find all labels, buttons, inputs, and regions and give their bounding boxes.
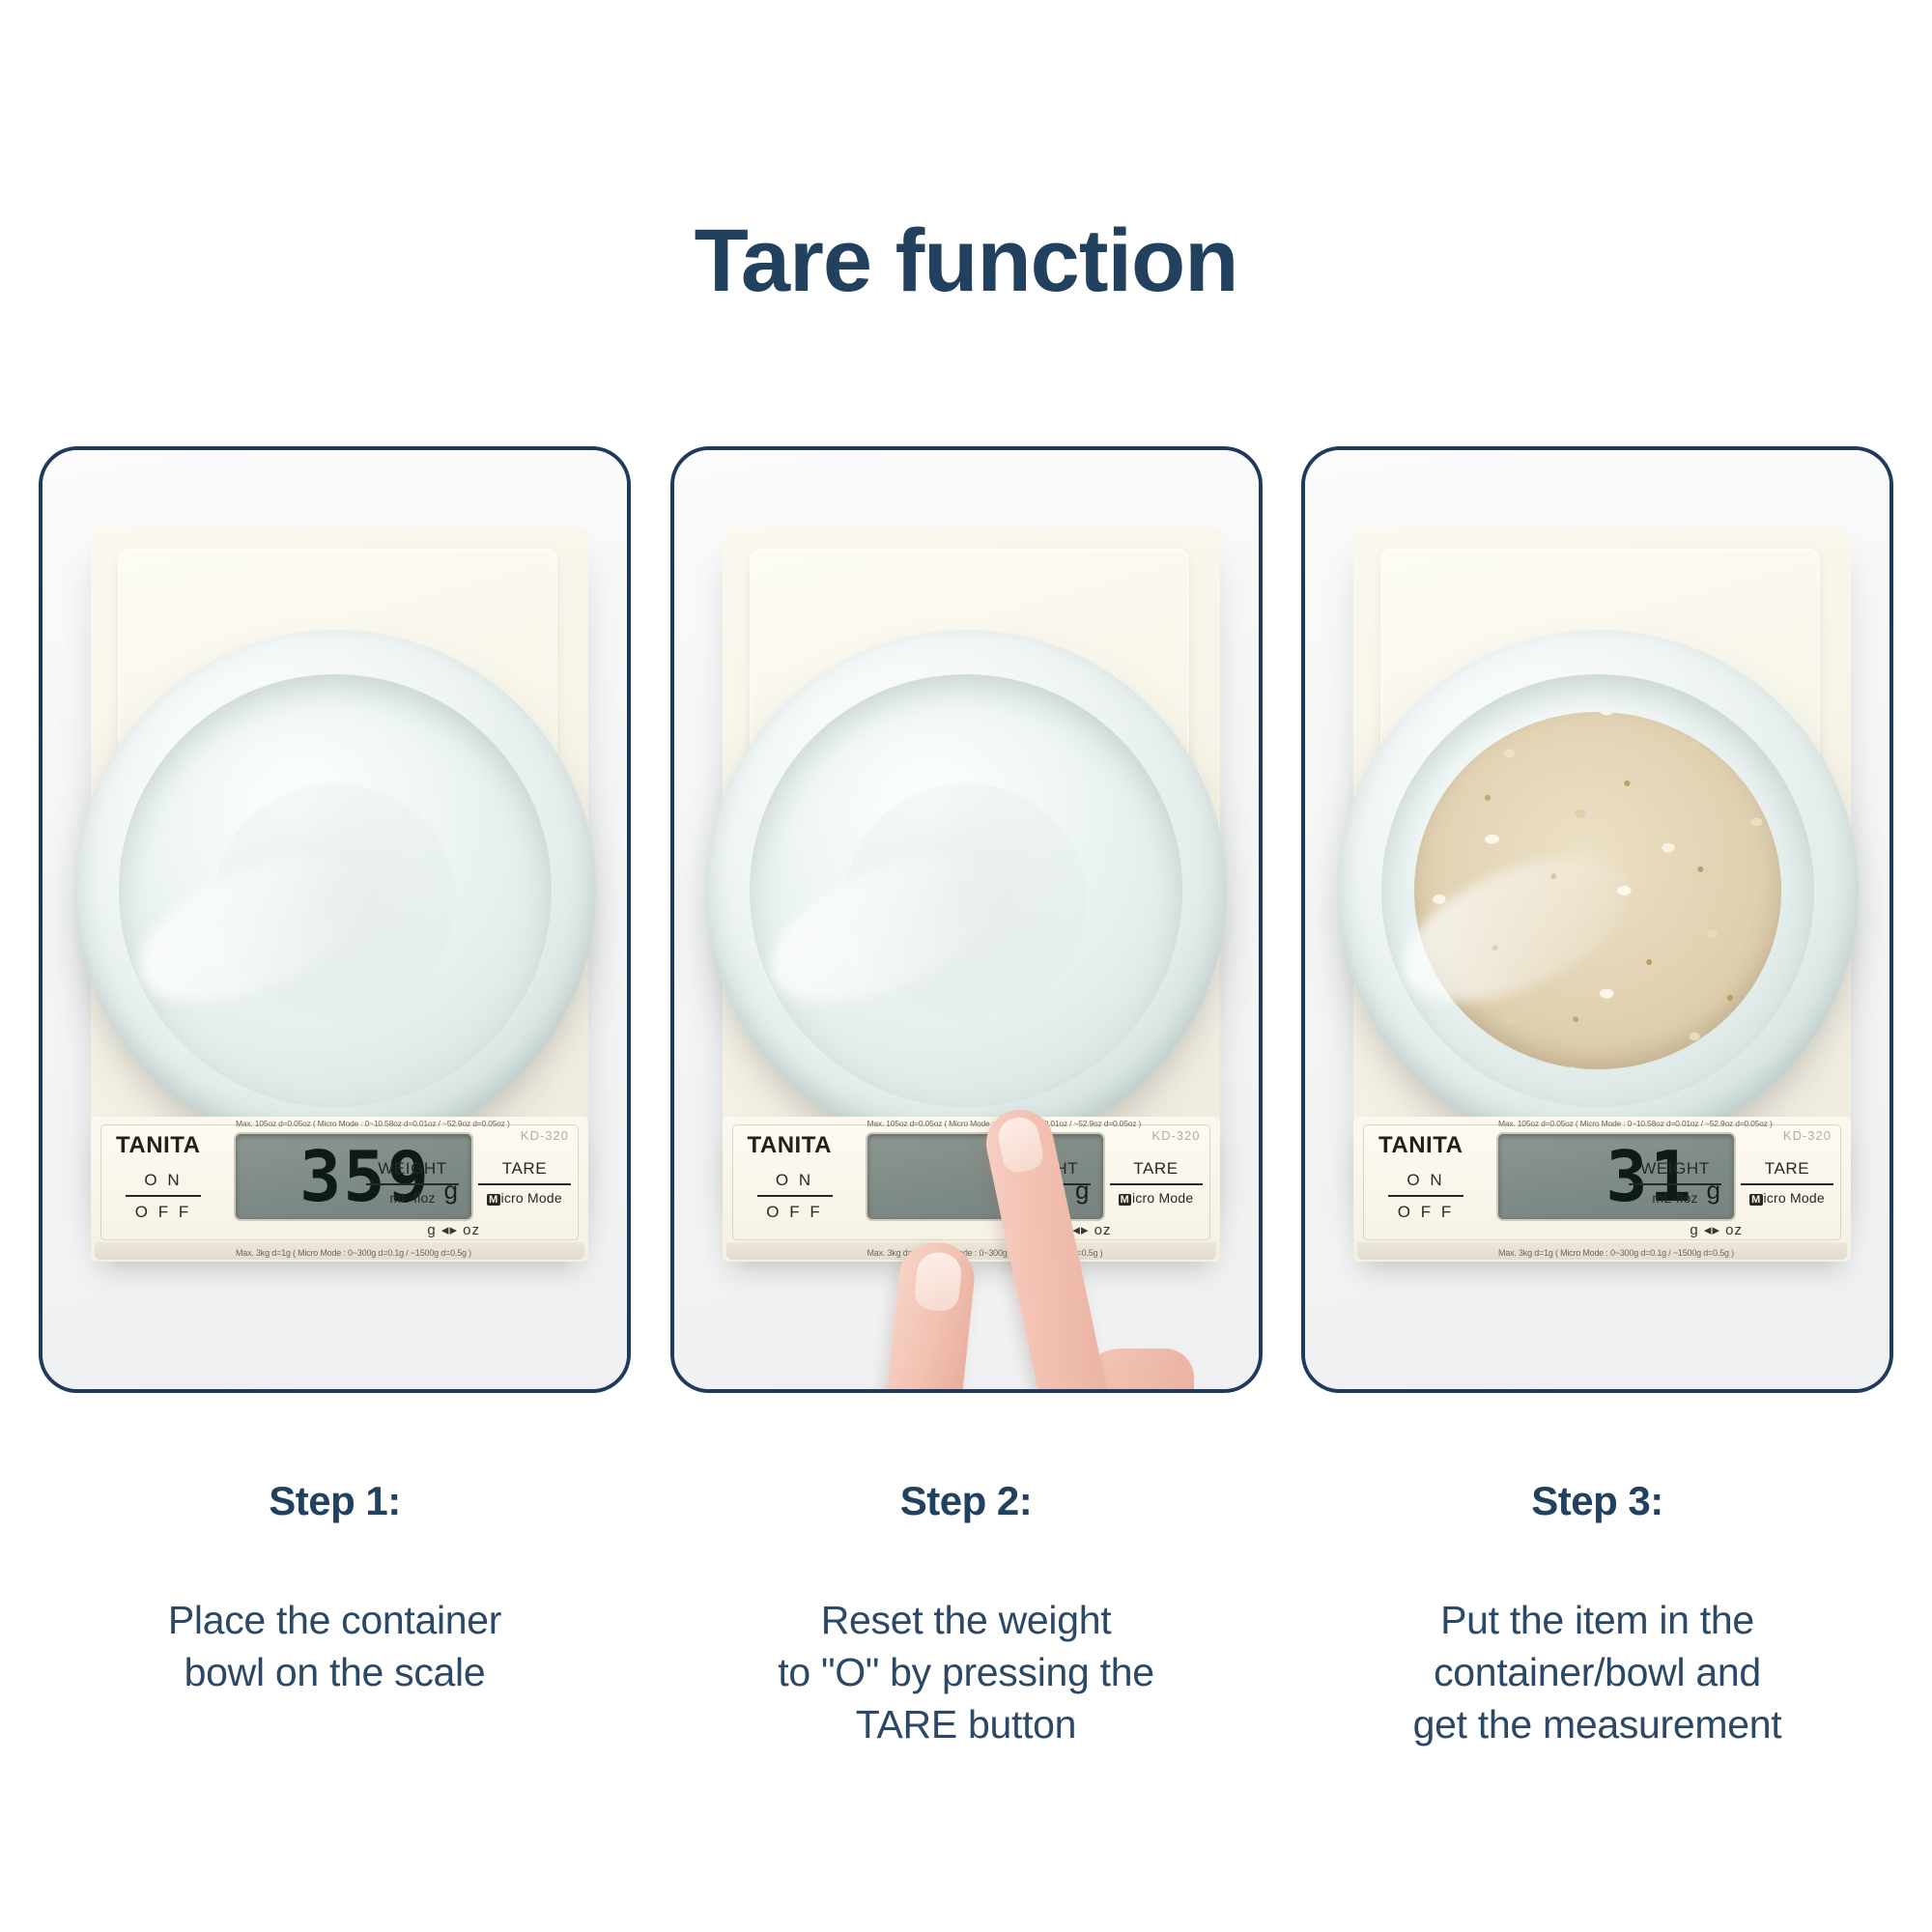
infographic-page: Tare function TANITA xyxy=(0,0,1932,1932)
tare-button-divider xyxy=(478,1183,571,1185)
weight-button-label: WEIGHT xyxy=(1629,1159,1721,1179)
model-number: KD-320 xyxy=(521,1128,569,1143)
tare-button-divider xyxy=(1110,1183,1203,1185)
scale-photo-3: TANITA O N O F F Max. 105oz d=0.05oz ( M… xyxy=(1305,450,1889,1389)
weight-button-label: WEIGHT xyxy=(366,1159,459,1179)
model-number: KD-320 xyxy=(1151,1128,1200,1143)
micro-mode-text: icro Mode xyxy=(1764,1190,1825,1206)
micro-mode-text: icro Mode xyxy=(501,1190,562,1206)
power-divider xyxy=(126,1195,201,1197)
thumb-nail xyxy=(913,1250,963,1312)
power-button[interactable]: O N O F F xyxy=(1388,1171,1463,1222)
scale-button-group: WEIGHT mL·floz TARE Micro Mode xyxy=(366,1159,571,1206)
tare-button-label: TARE xyxy=(1741,1159,1833,1179)
weight-button[interactable]: WEIGHT mL·floz xyxy=(366,1159,459,1206)
scale-photo-2: TANITA O N O F F Max. 105oz d=0.05oz ( M… xyxy=(674,450,1259,1389)
micro-mode-badge: M xyxy=(1749,1194,1762,1206)
scale-control-panel: TANITA O N O F F Max. 105oz d=0.05oz ( M… xyxy=(1353,1117,1851,1262)
power-off-label: O F F xyxy=(1388,1203,1463,1222)
step-caption-2: Step 2: Reset the weight to "O" by press… xyxy=(670,1478,1263,1750)
spec-text-oz: Max. 105oz d=0.05oz ( Micro Mode : 0~10.… xyxy=(236,1119,535,1128)
micro-mode-badge: M xyxy=(487,1194,499,1206)
page-title: Tare function xyxy=(0,211,1932,312)
container-bowl xyxy=(705,630,1227,1151)
step-2-label: Step 2: xyxy=(670,1478,1263,1524)
tare-button-sublabel: Micro Mode xyxy=(1741,1190,1833,1206)
tare-button[interactable]: TARE Micro Mode xyxy=(478,1159,571,1206)
step-3-text: Put the item in the container/bowl and g… xyxy=(1301,1594,1893,1750)
tare-button-sublabel: Micro Mode xyxy=(478,1190,571,1206)
spec-text-g: Max. 3kg d=1g ( Micro Mode : 0~300g d=0.… xyxy=(1498,1248,1817,1258)
tare-button-divider xyxy=(1741,1183,1833,1185)
index-finger-nail xyxy=(994,1114,1045,1176)
step-3-label: Step 3: xyxy=(1301,1478,1893,1524)
power-on-label: O N xyxy=(757,1171,833,1190)
weight-button-sublabel: mL·floz xyxy=(366,1190,459,1206)
power-divider xyxy=(757,1195,833,1197)
step-card-2: TANITA O N O F F Max. 105oz d=0.05oz ( M… xyxy=(670,446,1263,1393)
step-1-label: Step 1: xyxy=(39,1478,631,1524)
power-on-label: O N xyxy=(1388,1171,1463,1190)
step-card-3: TANITA O N O F F Max. 105oz d=0.05oz ( M… xyxy=(1301,446,1893,1393)
power-divider xyxy=(1388,1195,1463,1197)
tare-button-label: TARE xyxy=(1110,1159,1203,1179)
container-bowl xyxy=(74,630,596,1151)
weight-button-sublabel: mL·floz xyxy=(1629,1190,1721,1206)
power-button[interactable]: O N O F F xyxy=(126,1171,201,1222)
scale-button-group: WEIGHT mL·floz TARE Micro Mode xyxy=(1629,1159,1833,1206)
container-bowl xyxy=(1337,630,1859,1151)
steps-card-row: TANITA O N O F F Max. 105oz d=0.05oz ( M… xyxy=(39,446,1893,1393)
step-caption-1: Step 1: Place the container bowl on the … xyxy=(39,1478,631,1750)
tare-button-label: TARE xyxy=(478,1159,571,1179)
unit-toggle-indicator: g ◂▸ oz xyxy=(427,1221,480,1238)
weight-button-divider xyxy=(1629,1183,1721,1185)
thumb xyxy=(882,1238,977,1393)
weight-button-divider xyxy=(366,1183,459,1185)
scale-control-panel: TANITA O N O F F Max. 105oz d=0.05oz ( M… xyxy=(91,1117,588,1262)
brand-logo: TANITA xyxy=(748,1132,832,1159)
power-on-label: O N xyxy=(126,1171,201,1190)
step-card-1: TANITA O N O F F Max. 105oz d=0.05oz ( M… xyxy=(39,446,631,1393)
spec-text-oz: Max. 105oz d=0.05oz ( Micro Mode : 0~10.… xyxy=(1498,1119,1798,1128)
model-number: KD-320 xyxy=(1783,1128,1832,1143)
step-captions-row: Step 1: Place the container bowl on the … xyxy=(39,1478,1893,1750)
unit-toggle-indicator: g ◂▸ oz xyxy=(1690,1221,1743,1238)
step-caption-3: Step 3: Put the item in the container/bo… xyxy=(1301,1478,1893,1750)
weight-button[interactable]: WEIGHT mL·floz xyxy=(1629,1159,1721,1206)
power-button[interactable]: O N O F F xyxy=(757,1171,833,1222)
spec-text-g: Max. 3kg d=1g ( Micro Mode : 0~300g d=0.… xyxy=(236,1248,554,1258)
brand-logo: TANITA xyxy=(1378,1132,1463,1159)
hand-pressing-tare xyxy=(898,1194,1207,1393)
step-1-text: Place the container bowl on the scale xyxy=(39,1594,631,1698)
scale-photo-1: TANITA O N O F F Max. 105oz d=0.05oz ( M… xyxy=(43,450,627,1389)
brand-logo: TANITA xyxy=(116,1132,200,1159)
power-off-label: O F F xyxy=(126,1203,201,1222)
power-off-label: O F F xyxy=(757,1203,833,1222)
step-2-text: Reset the weight to "O" by pressing the … xyxy=(670,1594,1263,1750)
tare-button[interactable]: TARE Micro Mode xyxy=(1741,1159,1833,1206)
